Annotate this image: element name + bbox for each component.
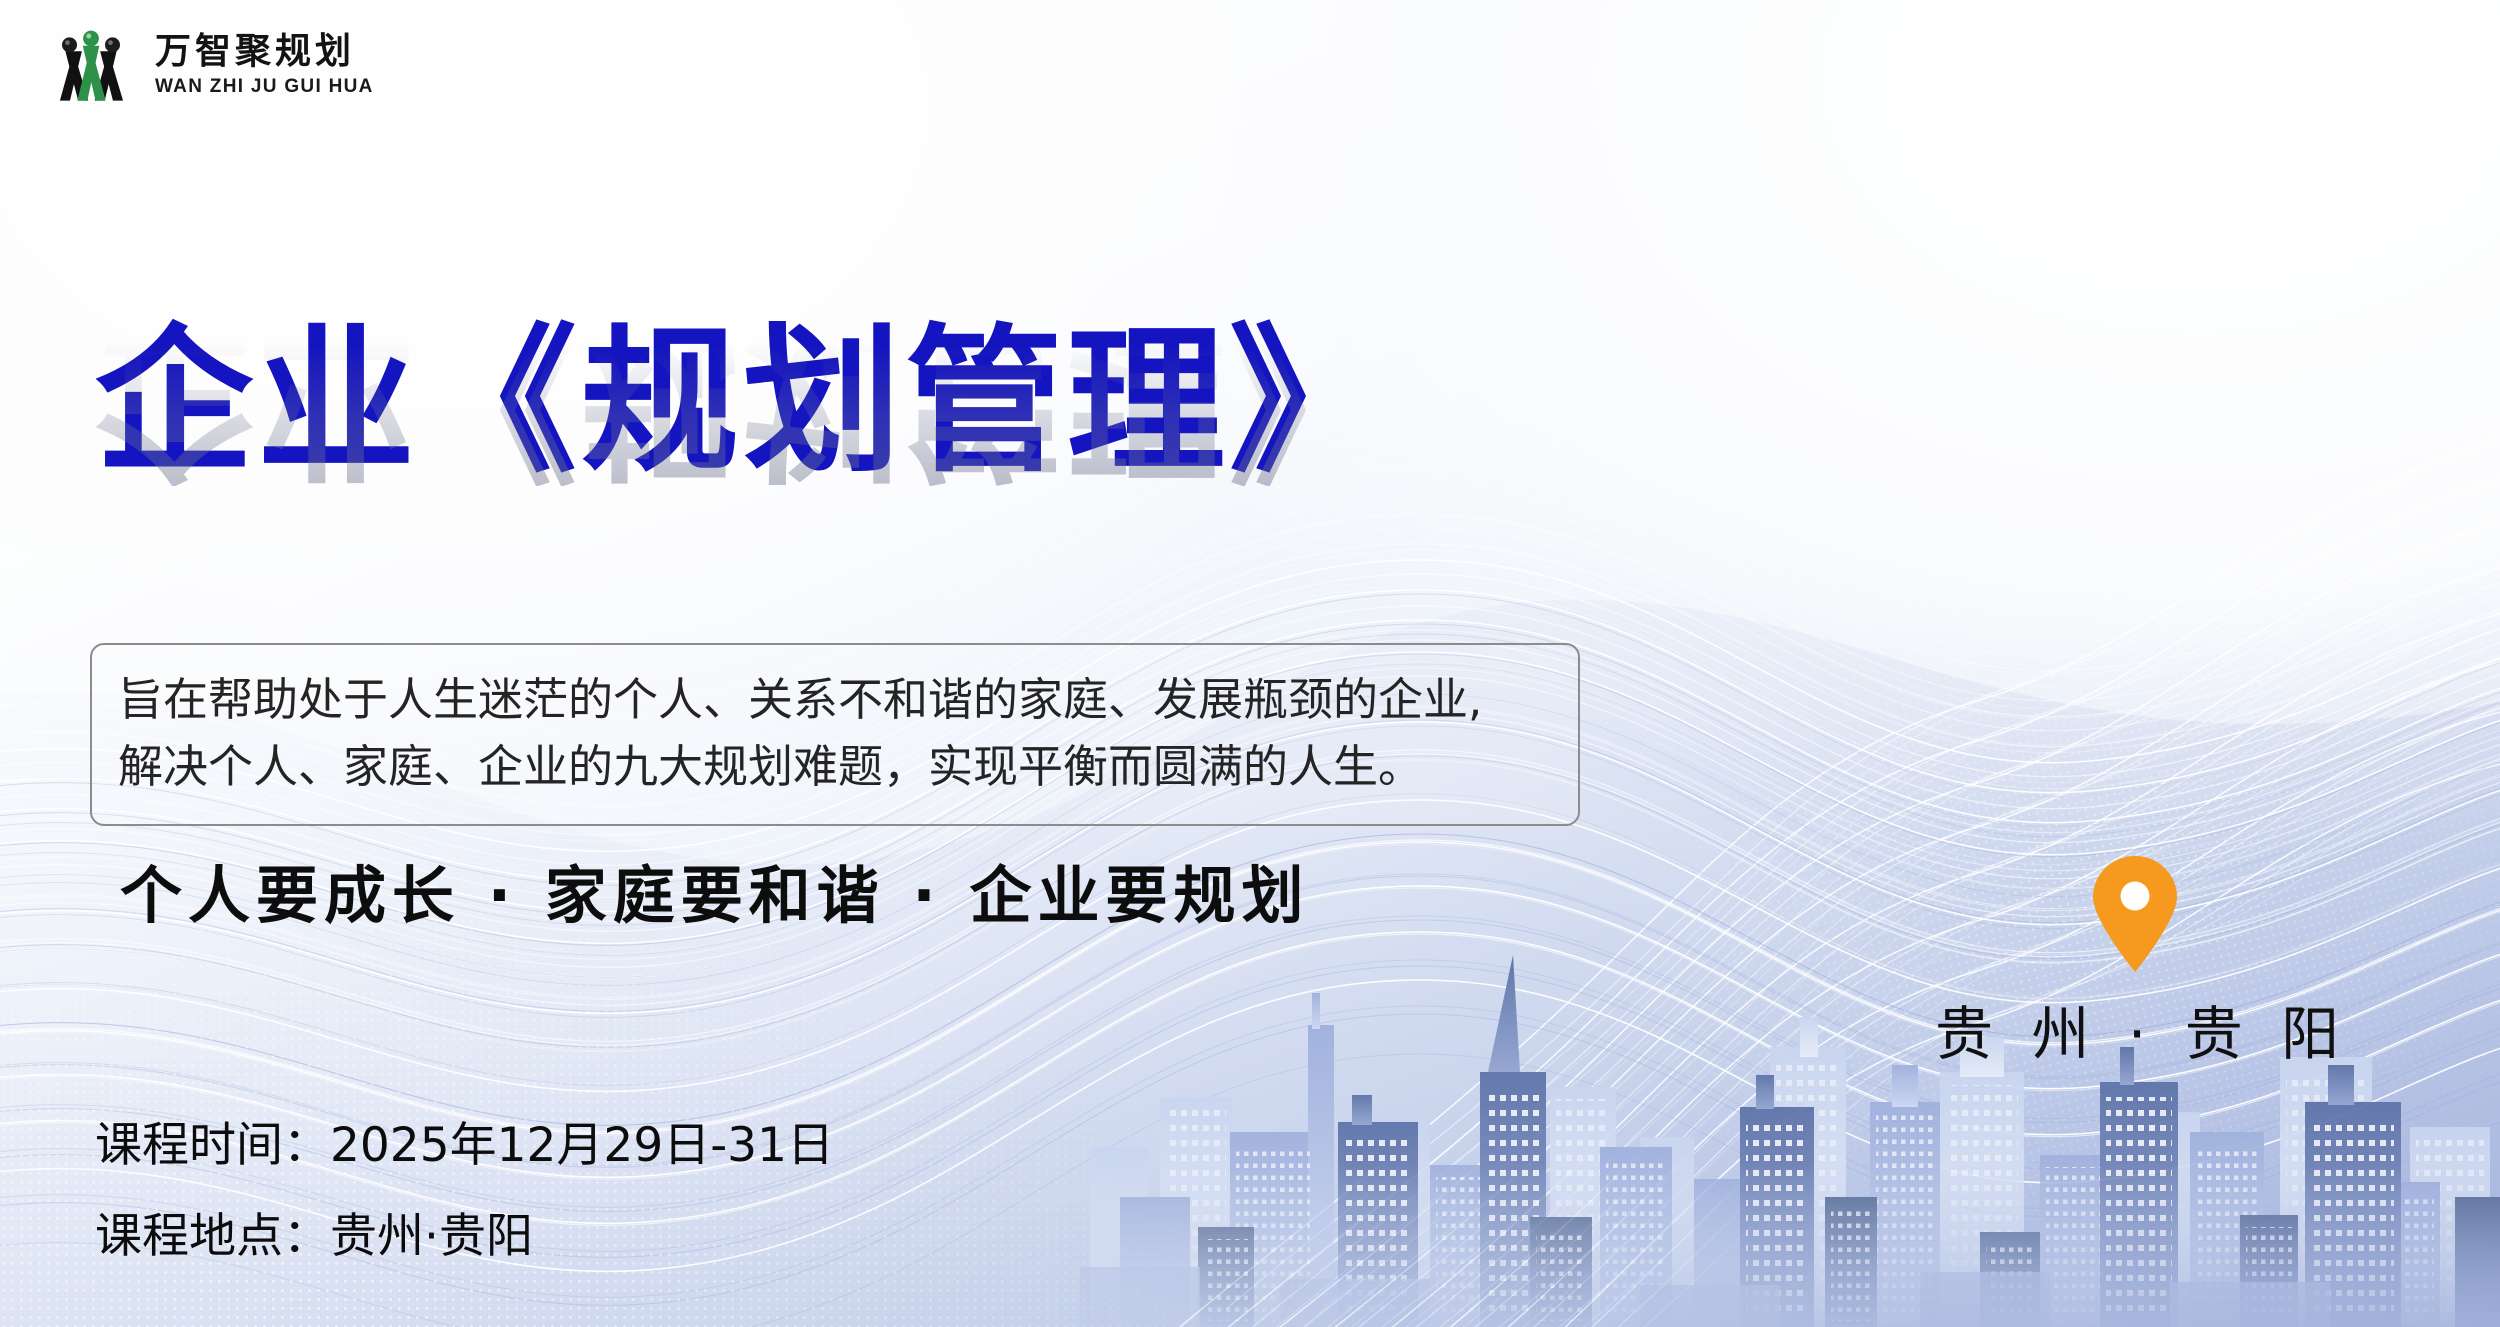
- brand-name-pinyin: WAN ZHI JU GUI HUA: [155, 76, 374, 98]
- course-info-block: 课程时间：2025年12月29日-31日 课程地点：贵州·贵阳: [95, 1122, 834, 1260]
- promo-banner: 万智聚规划 WAN ZHI JU GUI HUA 企业《规划管理》 企业《规划管…: [0, 0, 2500, 1327]
- brand-name-cn: 万智聚规划: [155, 32, 374, 70]
- description-line-2: 解决个人、家庭、企业的九大规划难题，实现平衡而圆满的人生。: [118, 734, 1552, 801]
- location-block: 贵 州 · 贵 阳: [1935, 855, 2335, 1071]
- hero-title-block: 企业《规划管理》 企业《规划管理》: [95, 320, 1695, 651]
- page-title: 企业《规划管理》: [95, 320, 1695, 484]
- description-box: 旨在帮助处于人生迷茫的个人、关系不和谐的家庭、发展瓶颈的企业, 解决个人、家庭、…: [90, 643, 1580, 826]
- three-people-mark-icon: [45, 22, 137, 108]
- brand-logo: 万智聚规划 WAN ZHI JU GUI HUA: [45, 22, 374, 108]
- location-city: 贵 州 · 贵 阳: [1935, 987, 2335, 1071]
- tagline: 个人要成长 · 家庭要和谐 · 企业要规划: [120, 845, 1309, 935]
- course-time: 课程时间：2025年12月29日-31日: [95, 1122, 834, 1169]
- description-line-1: 旨在帮助处于人生迷茫的个人、关系不和谐的家庭、发展瓶颈的企业,: [118, 667, 1552, 734]
- map-pin-icon: [2089, 855, 2181, 973]
- course-place: 课程地点：贵州·贵阳: [95, 1213, 834, 1260]
